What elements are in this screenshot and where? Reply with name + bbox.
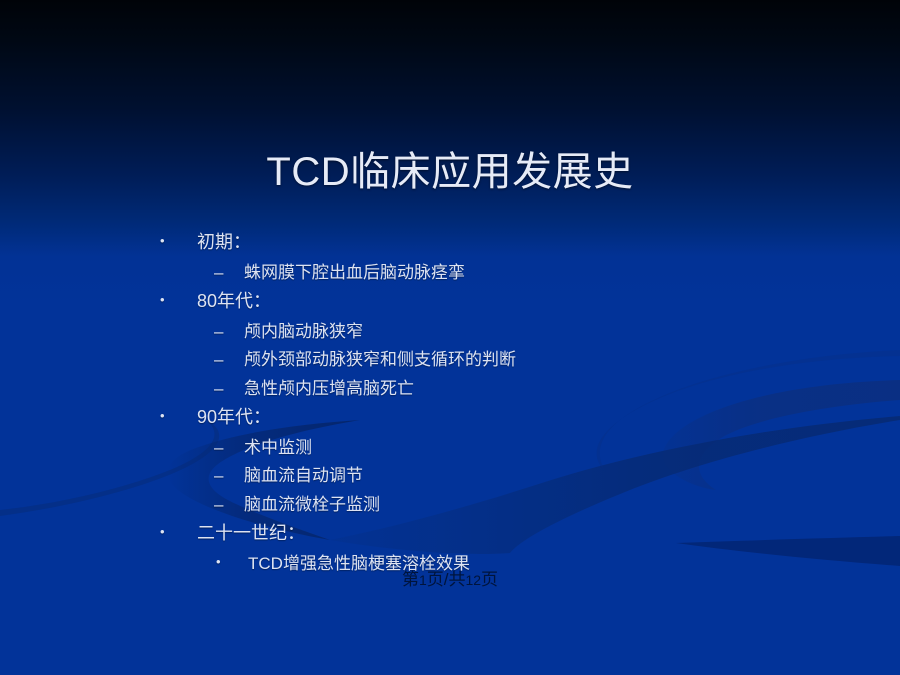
presentation-slide: TCD临床应用发展史 • 初期： – 蛛网膜下腔出血后脑动脉痉挛 • 80年代：… <box>0 0 900 675</box>
page-indicator-middle: 页/共 <box>427 570 466 589</box>
outline-item-text: 蛛网膜下腔出血后脑动脉痉挛 <box>244 259 465 288</box>
outline-item-text: 颅外颈部动脉狭窄和侧支循环的判断 <box>244 346 516 375</box>
outline-item-text: 脑血流自动调节 <box>244 462 363 491</box>
outline-item-text: 颅内脑动脉狭窄 <box>244 318 363 347</box>
page-indicator-prefix: 第 <box>402 570 419 589</box>
page-indicator-suffix: 页 <box>481 570 498 589</box>
bullet-dash-icon: – <box>214 375 244 404</box>
outline-item-text: 80年代： <box>197 287 271 316</box>
bullet-dash-icon: – <box>214 434 244 463</box>
outline-item-level2: – 颅外颈部动脉狭窄和侧支循环的判断 <box>160 346 780 375</box>
outline-item-level2: – 急性颅内压增高脑死亡 <box>160 375 780 404</box>
bullet-dash-icon: – <box>214 259 244 288</box>
bullet-dot-icon: • <box>160 518 197 547</box>
outline-item-text: 初期： <box>197 228 251 257</box>
outline-item-level2: – 蛛网膜下腔出血后脑动脉痉挛 <box>160 259 780 288</box>
outline-item-level1: • 90年代： <box>160 403 780 434</box>
outline-item-text: 术中监测 <box>244 434 312 463</box>
bullet-dot-icon: • <box>160 402 197 431</box>
slide-title: TCD临床应用发展史 <box>0 146 900 198</box>
outline-item-level2: – 脑血流自动调节 <box>160 462 780 491</box>
outline-item-level2: – 脑血流微栓子监测 <box>160 491 780 520</box>
outline-item-text: 90年代： <box>197 403 271 432</box>
page-indicator-total: 12 <box>465 572 481 588</box>
outline-item-text: 二十一世纪： <box>197 519 305 548</box>
outline-item-text: 急性颅内压增高脑死亡 <box>244 375 414 404</box>
bullet-dash-icon: – <box>214 491 244 520</box>
bullet-dot-icon: • <box>160 286 197 315</box>
bullet-dash-icon: – <box>214 462 244 491</box>
outline-item-level1: • 二十一世纪： <box>160 519 780 550</box>
outline-item-level2: – 颅内脑动脉狭窄 <box>160 318 780 347</box>
bullet-dash-icon: – <box>214 346 244 375</box>
outline-item-level1: • 80年代： <box>160 287 780 318</box>
bullet-dash-icon: – <box>214 318 244 347</box>
outline-item-level2: – 术中监测 <box>160 434 780 463</box>
page-indicator: 第1页/共12页 <box>0 569 900 591</box>
slide-outline-body: • 初期： – 蛛网膜下腔出血后脑动脉痉挛 • 80年代： – 颅内脑动脉狭窄 … <box>160 228 780 579</box>
outline-item-text: 脑血流微栓子监测 <box>244 491 380 520</box>
bullet-dot-icon: • <box>160 227 197 256</box>
outline-item-level1: • 初期： <box>160 228 780 259</box>
page-indicator-current: 1 <box>419 572 427 588</box>
